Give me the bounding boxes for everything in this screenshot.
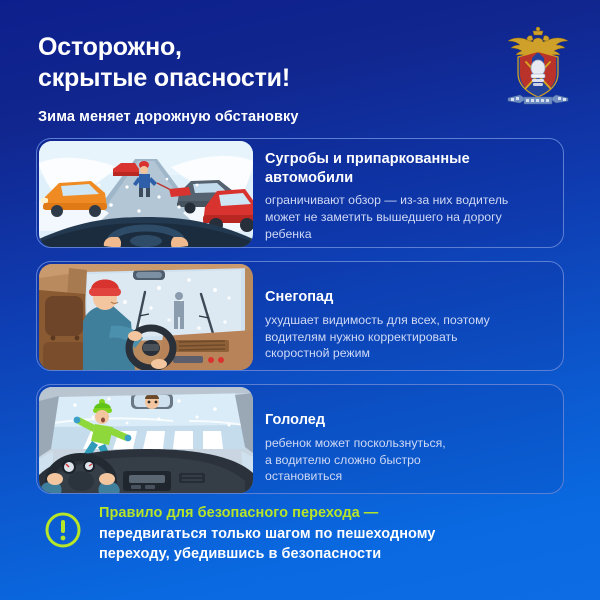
hazard-image-ice [39, 387, 253, 493]
poster-root: Осторожно, скрытые опасности! Зима меняе… [0, 0, 600, 600]
safety-rule-footer: Правило для безопасного перехода — перед… [42, 503, 570, 565]
hazard-image-snowfall [39, 264, 253, 370]
exclamation-circle-icon [44, 511, 82, 549]
hazard-card-text: Гололед ребенок может поскользнуться, а … [265, 411, 549, 485]
hazard-heading: Снегопад [265, 288, 549, 307]
hazard-heading: Сугробы и припаркованные автомобили [265, 150, 549, 187]
hazard-image-snowdrifts [39, 141, 253, 247]
hazard-body: ребенок может поскользнуться, а водителю… [265, 435, 549, 486]
page-title: Осторожно, скрытые опасности! [38, 32, 290, 93]
safety-rule-highlight: Правило для безопасного перехода — [99, 503, 570, 524]
page-subtitle: Зима меняет дорожную обстановку [38, 109, 299, 125]
safety-rule-text: Правило для безопасного перехода — перед… [99, 503, 570, 565]
hazard-card-ice[interactable]: Гололед ребенок может поскользнуться, а … [36, 384, 564, 494]
mvd-emblem-icon [502, 24, 574, 110]
safety-rule-detail: передвигаться только шагом по пешеходном… [99, 524, 570, 565]
hazard-card-text: Снегопад ухудшает видимость для всех, по… [265, 288, 549, 362]
hazard-body: ограничивают обзор — из-за них водитель … [265, 192, 549, 243]
hazard-body: ухудшает видимость для всех, поэтому вод… [265, 312, 549, 363]
hazard-card-text: Сугробы и припаркованные автомобили огра… [265, 150, 549, 243]
hazard-card-snowdrifts[interactable]: Сугробы и припаркованные автомобили огра… [36, 138, 564, 248]
hazard-heading: Гололед [265, 411, 549, 430]
hazard-card-snowfall[interactable]: Снегопад ухудшает видимость для всех, по… [36, 261, 564, 371]
